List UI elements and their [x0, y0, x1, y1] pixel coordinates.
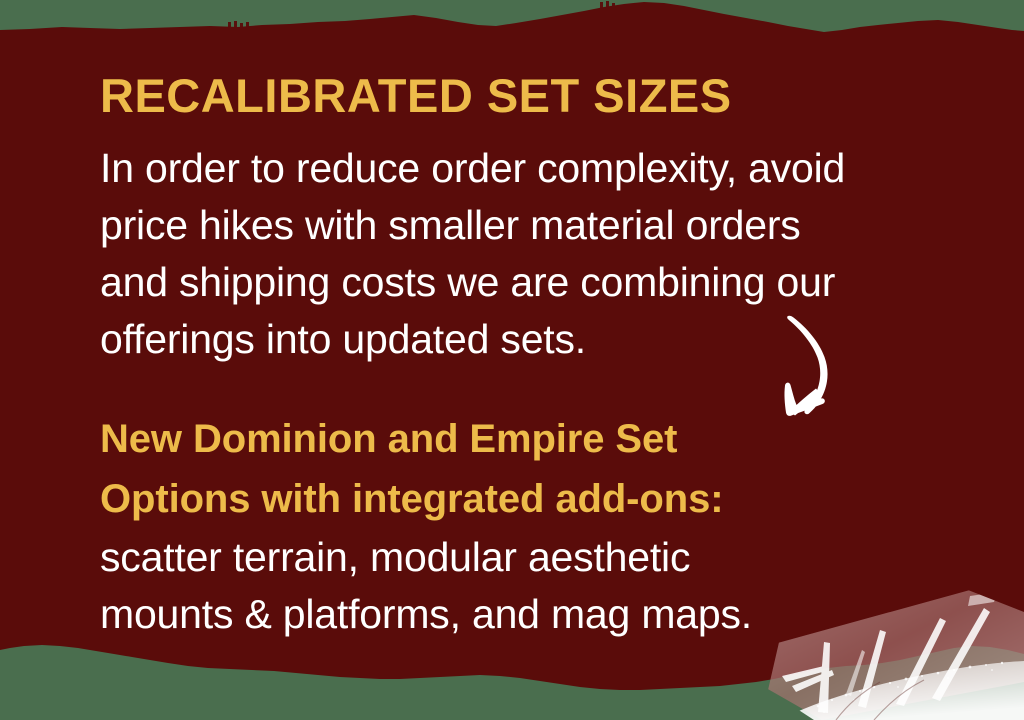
page-title: RECALIBRATED SET SIZES [100, 72, 980, 121]
highlight-line-1: New Dominion and Empire Set [100, 409, 980, 469]
detail-paragraph: scatter terrain, modular aesthetic mount… [100, 529, 980, 643]
highlight-block: New Dominion and Empire Set Options with… [100, 409, 980, 643]
intro-line-2: price hikes with smaller material orders [100, 197, 970, 254]
intro-line-4: offerings into updated sets. [100, 311, 970, 368]
intro-paragraph: In order to reduce order complexity, avo… [100, 140, 970, 368]
detail-line-2: mounts & platforms, and mag maps. [100, 586, 980, 643]
banner-root: RECALIBRATED SET SIZES In order to reduc… [0, 0, 1024, 720]
highlight-heading: New Dominion and Empire Set Options with… [100, 409, 980, 529]
banner-content: RECALIBRATED SET SIZES In order to reduc… [100, 72, 980, 643]
detail-line-1: scatter terrain, modular aesthetic [100, 529, 980, 586]
highlight-line-2: Options with integrated add-ons: [100, 469, 980, 529]
intro-line-3: and shipping costs we are combining our [100, 254, 970, 311]
intro-line-1: In order to reduce order complexity, avo… [100, 140, 970, 197]
